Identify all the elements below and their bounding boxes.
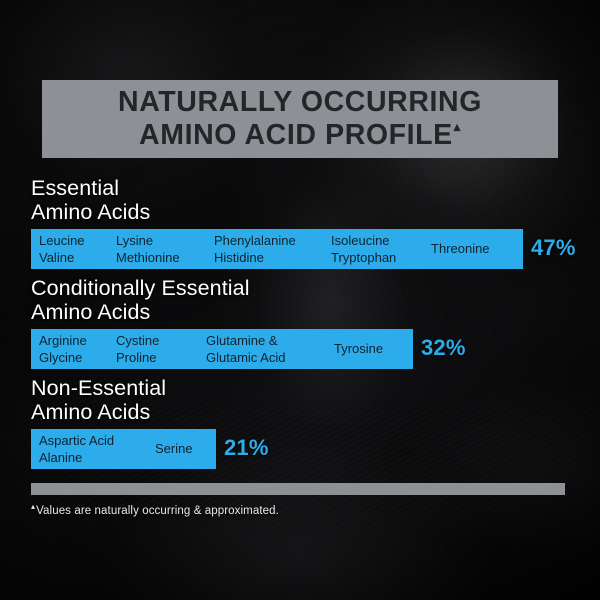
bar-columns-conditionally-essential: Arginine Glycine Cystine Proline Glutami… — [31, 329, 413, 369]
amino-group-serine: Serine — [155, 441, 193, 458]
percentage-conditionally-essential: 32% — [421, 335, 466, 361]
amino-group-lysine-methionine: Lysine Methionine — [116, 233, 180, 266]
bar-columns-non-essential: Aspartic Acid Alanine Serine — [31, 429, 216, 469]
section-heading-non-essential: Non-Essential Amino Acids — [31, 376, 166, 424]
amino-group-tyrosine: Tyrosine — [334, 341, 383, 358]
amino-group-threonine: Threonine — [431, 241, 490, 258]
footnote-text: Values are naturally occurring & approxi… — [36, 505, 279, 517]
amino-group-arginine-glycine: Arginine Glycine — [39, 333, 87, 366]
section-essential: Essential Amino Acids Leucine Valine Lys… — [31, 176, 150, 269]
bar-conditionally-essential: Arginine Glycine Cystine Proline Glutami… — [31, 329, 413, 369]
section-non-essential: Non-Essential Amino Acids Aspartic Acid … — [31, 376, 166, 469]
percentage-non-essential: 21% — [224, 435, 269, 461]
content-layer: NATURALLY OCCURRING AMINO ACID PROFILE▴ … — [0, 0, 600, 600]
bar-essential: Leucine Valine Lysine Methionine Phenyla… — [31, 229, 523, 269]
footer-divider-bar — [31, 483, 565, 495]
bar-columns-essential: Leucine Valine Lysine Methionine Phenyla… — [31, 229, 523, 269]
title-banner: NATURALLY OCCURRING AMINO ACID PROFILE▴ — [42, 80, 558, 158]
percentage-essential: 47% — [531, 235, 576, 261]
amino-acid-profile-infographic: NATURALLY OCCURRING AMINO ACID PROFILE▴ … — [0, 0, 600, 600]
bar-non-essential: Aspartic Acid Alanine Serine — [31, 429, 216, 469]
section-heading-conditionally-essential: Conditionally Essential Amino Acids — [31, 276, 250, 324]
amino-group-cystine-proline: Cystine Proline — [116, 333, 159, 366]
bar-row-non-essential: Aspartic Acid Alanine Serine 21% — [31, 429, 166, 469]
bar-row-conditionally-essential: Arginine Glycine Cystine Proline Glutami… — [31, 329, 250, 369]
section-heading-essential: Essential Amino Acids — [31, 176, 150, 224]
page-title-line-2-text: AMINO ACID PROFILE — [139, 119, 453, 151]
footnote-caret-icon: ▴ — [31, 502, 35, 511]
page-title-line-2: AMINO ACID PROFILE▴ — [139, 119, 461, 152]
amino-group-leucine-valine: Leucine Valine — [39, 233, 85, 266]
amino-group-phenylalanine-histidine: Phenylalanine Histidine — [214, 233, 296, 266]
amino-group-isoleucine-tryptophan: Isoleucine Tryptophan — [331, 233, 396, 266]
footnote: ▴Values are naturally occurring & approx… — [31, 505, 279, 517]
amino-group-glutamine-glutamic-acid: Glutamine & Glutamic Acid — [206, 333, 285, 366]
title-superscript-caret-icon: ▴ — [454, 119, 461, 134]
amino-group-aspartic-acid-alanine: Aspartic Acid Alanine — [39, 433, 114, 466]
bar-row-essential: Leucine Valine Lysine Methionine Phenyla… — [31, 229, 150, 269]
page-title-line-1: NATURALLY OCCURRING — [118, 86, 482, 119]
section-conditionally-essential: Conditionally Essential Amino Acids Argi… — [31, 276, 250, 369]
